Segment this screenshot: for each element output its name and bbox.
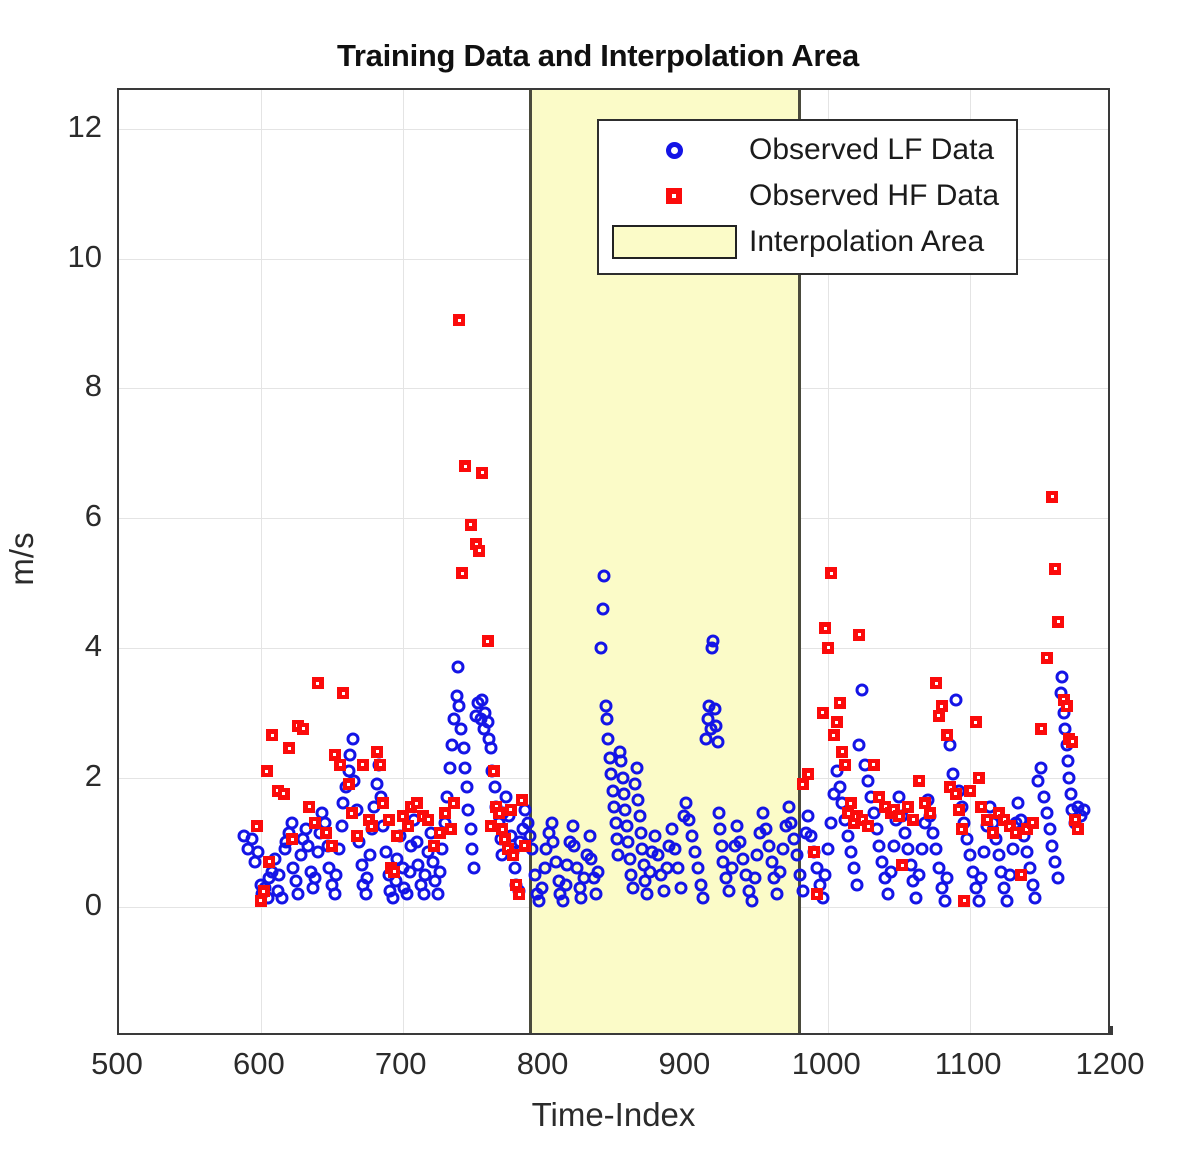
hf-data-point [953, 804, 965, 816]
lf-data-point [697, 891, 710, 904]
hf-data-point [374, 759, 386, 771]
lf-data-point [592, 865, 605, 878]
lf-data-point [454, 722, 467, 735]
hf-data-point [507, 849, 519, 861]
chart-legend[interactable]: Observed LF Data Observed HF Data Interp… [597, 119, 1018, 275]
hf-data-point [1066, 736, 1078, 748]
lf-data-point [598, 570, 611, 583]
lf-data-point [622, 836, 635, 849]
hf-data-point [834, 697, 846, 709]
lf-data-point [822, 842, 835, 855]
lf-data-point [619, 803, 632, 816]
lf-data-point [460, 781, 473, 794]
hf-data-point [334, 759, 346, 771]
interpolation-patch-icon [599, 225, 749, 259]
x-tick-label: 1200 [1040, 1046, 1180, 1082]
lf-data-point [1035, 761, 1048, 774]
hf-data-point [811, 888, 823, 900]
lf-data-point [1020, 846, 1033, 859]
lf-data-point [600, 713, 613, 726]
lf-data-point [547, 836, 560, 849]
lf-data-point [1040, 807, 1053, 820]
hf-data-point [377, 797, 389, 809]
lf-data-point [488, 781, 501, 794]
hf-data-point [283, 742, 295, 754]
lf-data-point [771, 888, 784, 901]
lf-data-point [715, 839, 728, 852]
lf-data-point [640, 888, 653, 901]
lf-data-point [686, 829, 699, 842]
hf-data-point [312, 677, 324, 689]
hf-data-point [445, 823, 457, 835]
lf-data-point [583, 829, 596, 842]
lf-data-point [635, 826, 648, 839]
hf-data-point [964, 785, 976, 797]
lf-data-point [364, 849, 377, 862]
lf-data-point [853, 739, 866, 752]
lf-data-point [850, 878, 863, 891]
hf-data-point [453, 314, 465, 326]
lf-data-point [833, 781, 846, 794]
lf-data-point [927, 826, 940, 839]
lf-data-point [620, 820, 633, 833]
lf-data-point [964, 849, 977, 862]
lf-data-point [467, 862, 480, 875]
lf-data-point [521, 816, 534, 829]
lf-data-point [623, 852, 636, 865]
hf-data-point [981, 814, 993, 826]
hf-data-point [1010, 827, 1022, 839]
lf-data-point [782, 800, 795, 813]
lf-data-point [461, 803, 474, 816]
lf-data-point [618, 787, 631, 800]
hf-data-point [941, 729, 953, 741]
y-tick-label: 10 [18, 239, 102, 275]
hf-data-point [266, 729, 278, 741]
hf-data-point [258, 885, 270, 897]
lf-data-point [466, 842, 479, 855]
x-tick-label: 1100 [898, 1046, 1038, 1082]
lf-data-point [246, 833, 259, 846]
hf-data-point [1046, 491, 1058, 503]
y-tick-label: 2 [18, 758, 102, 794]
lf-data-point [938, 894, 951, 907]
hf-data-point [845, 797, 857, 809]
lf-data-point [881, 888, 894, 901]
lf-data-point [713, 807, 726, 820]
lf-data-point [652, 849, 665, 862]
hf-data-point [337, 687, 349, 699]
hf-data-point [320, 827, 332, 839]
lf-data-point [694, 878, 707, 891]
lf-data-point [793, 868, 806, 881]
hf-data-point [422, 814, 434, 826]
lf-data-point [596, 602, 609, 615]
lf-data-point [759, 823, 772, 836]
hf-data-point [346, 807, 358, 819]
lf-data-point [1006, 842, 1019, 855]
hf-data-point [831, 716, 843, 728]
lf-data-point [734, 836, 747, 849]
lf-data-point [710, 719, 723, 732]
hf-data-point [326, 840, 338, 852]
lf-data-point [632, 794, 645, 807]
lf-data-point [1037, 791, 1050, 804]
lf-data-point [842, 829, 855, 842]
lf-data-point [535, 881, 548, 894]
hf-data-point [343, 778, 355, 790]
lf-data-point [361, 872, 374, 885]
y-tick-label: 8 [18, 368, 102, 404]
lf-data-point [452, 661, 465, 674]
lf-data-point [913, 868, 926, 881]
lf-data-point [625, 868, 638, 881]
lf-data-point [785, 816, 798, 829]
lf-data-point [566, 820, 579, 833]
lf-data-point [417, 888, 430, 901]
y-tick-label: 12 [18, 109, 102, 145]
lf-data-point [1043, 823, 1056, 836]
lf-data-point [1026, 878, 1039, 891]
lf-data-point [649, 829, 662, 842]
lf-data-point [762, 839, 775, 852]
lf-data-point [1001, 894, 1014, 907]
lf-data-point [731, 820, 744, 833]
lf-data-point [532, 894, 545, 907]
lf-data-point [873, 839, 886, 852]
lf-data-point [1046, 839, 1059, 852]
lf-data-point [972, 894, 985, 907]
lf-data-point [291, 888, 304, 901]
hf-data-point [819, 622, 831, 634]
hf-data-point [391, 830, 403, 842]
x-tick-mark [1110, 1026, 1113, 1035]
legend-item-hf[interactable]: Observed HF Data [599, 173, 1016, 219]
hf-data-point [297, 723, 309, 735]
lf-data-point [856, 683, 869, 696]
hf-data-point [825, 567, 837, 579]
lf-data-point [443, 761, 456, 774]
lf-data-point [585, 852, 598, 865]
x-tick-label: 700 [331, 1046, 471, 1082]
hf-data-point [251, 820, 263, 832]
lf-data-point [978, 846, 991, 859]
hf-data-point [1061, 700, 1073, 712]
lf-data-point [901, 842, 914, 855]
hf-data-point [808, 846, 820, 858]
lf-data-point [722, 885, 735, 898]
lf-data-point [949, 693, 962, 706]
lf-data-point [688, 846, 701, 859]
lf-data-point [748, 872, 761, 885]
lf-data-point [844, 846, 857, 859]
hf-data-point [383, 814, 395, 826]
hf-data-point [357, 759, 369, 771]
hf-data-point [488, 765, 500, 777]
lf-data-point [557, 894, 570, 907]
lf-data-point [276, 891, 289, 904]
lf-data-point [1063, 771, 1076, 784]
legend-item-lf[interactable]: Observed LF Data [599, 127, 1016, 173]
lf-data-point [347, 732, 360, 745]
lf-data-point [273, 868, 286, 881]
lf-data-point [674, 881, 687, 894]
hf-data-point [936, 700, 948, 712]
lf-data-point [568, 839, 581, 852]
lf-data-point [629, 778, 642, 791]
hf-data-point [817, 707, 829, 719]
lf-data-point [669, 842, 682, 855]
hf-data-point [505, 804, 517, 816]
hf-data-point [448, 797, 460, 809]
hf-marker-icon [599, 188, 749, 204]
lf-data-point [1064, 787, 1077, 800]
lf-data-point [616, 771, 629, 784]
lf-data-point [657, 885, 670, 898]
lf-data-point [464, 823, 477, 836]
hf-data-point [958, 895, 970, 907]
hf-data-point [987, 827, 999, 839]
lf-data-point [671, 862, 684, 875]
lf-data-point [680, 797, 693, 810]
x-axis-label: Time-Index [117, 1096, 1110, 1134]
lf-data-point [998, 881, 1011, 894]
lf-data-point [559, 878, 572, 891]
hf-data-point [371, 746, 383, 758]
lf-data-point [1012, 797, 1025, 810]
y-tick-label: 0 [18, 887, 102, 923]
lf-data-point [825, 816, 838, 829]
hf-data-point [278, 788, 290, 800]
lf-data-point [805, 829, 818, 842]
hf-data-point [1041, 652, 1053, 664]
lf-data-point [626, 881, 639, 894]
lf-data-point [400, 888, 413, 901]
hf-data-point [970, 716, 982, 728]
hf-data-point [913, 775, 925, 787]
y-tick-label: 4 [18, 628, 102, 664]
hf-data-point [839, 759, 851, 771]
lf-data-point [745, 894, 758, 907]
lf-data-point [776, 842, 789, 855]
lf-data-point [589, 888, 602, 901]
lf-data-point [915, 842, 928, 855]
hf-data-point [485, 820, 497, 832]
lf-data-point [751, 849, 764, 862]
lf-data-point [484, 742, 497, 755]
hf-data-point [366, 820, 378, 832]
lf-data-point [286, 816, 299, 829]
lf-data-point [508, 862, 521, 875]
hf-data-point [1072, 823, 1084, 835]
lf-data-point [1029, 891, 1042, 904]
lf-data-point [725, 862, 738, 875]
hf-data-point [459, 460, 471, 472]
hf-data-point [907, 814, 919, 826]
hf-data-point [513, 888, 525, 900]
hf-data-point [351, 830, 363, 842]
hf-data-point [868, 759, 880, 771]
hf-data-point [388, 866, 400, 878]
hf-data-point [1035, 723, 1047, 735]
lf-data-point [459, 761, 472, 774]
y-tick-label: 6 [18, 498, 102, 534]
lf-data-point [707, 635, 720, 648]
legend-item-interpolation[interactable]: Interpolation Area [599, 219, 1016, 265]
x-tick-label: 1000 [756, 1046, 896, 1082]
lf-data-point [602, 732, 615, 745]
chart-title: Training Data and Interpolation Area [0, 38, 1196, 74]
lf-data-point [335, 820, 348, 833]
lf-data-point [457, 742, 470, 755]
lf-data-point [359, 888, 372, 901]
lf-data-point [328, 888, 341, 901]
lf-data-point [1049, 855, 1062, 868]
x-tick-label: 800 [473, 1046, 613, 1082]
hf-data-point [476, 467, 488, 479]
hf-data-point [896, 859, 908, 871]
hf-data-point [853, 629, 865, 641]
lf-data-point [683, 813, 696, 826]
x-tick-label: 900 [614, 1046, 754, 1082]
hf-data-point [802, 768, 814, 780]
lf-data-point [287, 862, 300, 875]
lf-data-point [992, 849, 1005, 862]
lf-data-point [898, 826, 911, 839]
hf-data-point [930, 677, 942, 689]
hf-data-point [519, 840, 531, 852]
x-tick-label: 500 [47, 1046, 187, 1082]
hf-data-point [286, 833, 298, 845]
hf-data-point [493, 807, 505, 819]
lf-data-point [737, 852, 750, 865]
legend-label-hf: Observed HF Data [749, 179, 999, 213]
lf-data-point [757, 807, 770, 820]
lf-data-point [910, 891, 923, 904]
lf-data-point [796, 885, 809, 898]
hf-data-point [309, 817, 321, 829]
hf-data-point [263, 856, 275, 868]
lf-data-point [847, 862, 860, 875]
lf-data-point [615, 755, 628, 768]
lf-data-point [975, 872, 988, 885]
hf-data-point [862, 820, 874, 832]
hf-data-point [828, 729, 840, 741]
lf-data-point [1062, 755, 1075, 768]
hf-data-point [465, 519, 477, 531]
lf-data-point [386, 891, 399, 904]
lf-data-point [410, 836, 423, 849]
hf-data-point [902, 801, 914, 813]
hf-data-point [1049, 563, 1061, 575]
lf-data-point [599, 700, 612, 713]
lf-data-point [666, 823, 679, 836]
lf-data-point [819, 868, 832, 881]
legend-label-interpolation: Interpolation Area [749, 225, 984, 259]
lf-data-point [545, 816, 558, 829]
hf-data-point [261, 765, 273, 777]
lf-data-point [481, 716, 494, 729]
lf-data-point [1032, 774, 1045, 787]
hf-data-point [836, 746, 848, 758]
lf-data-point [633, 810, 646, 823]
hf-data-point [482, 635, 494, 647]
hf-data-point [1052, 616, 1064, 628]
lf-data-point [711, 735, 724, 748]
hf-data-point [402, 820, 414, 832]
lf-data-point [476, 693, 489, 706]
hf-data-point [428, 840, 440, 852]
hf-data-point [473, 545, 485, 557]
lf-data-point [791, 849, 804, 862]
hf-data-point [924, 807, 936, 819]
lf-data-point [1052, 872, 1065, 885]
lf-data-point [433, 865, 446, 878]
hf-data-point [516, 794, 528, 806]
lf-data-point [691, 862, 704, 875]
lf-data-point [330, 868, 343, 881]
hf-data-point [411, 797, 423, 809]
lf-data-point [941, 872, 954, 885]
lf-data-point [630, 761, 643, 774]
hf-data-point [822, 642, 834, 654]
hf-data-point [1015, 869, 1027, 881]
hf-data-point [950, 788, 962, 800]
lf-data-point [290, 875, 303, 888]
lf-data-point [595, 641, 608, 654]
lf-data-point [930, 842, 943, 855]
hf-data-point [973, 772, 985, 784]
lf-data-point [887, 839, 900, 852]
chart-figure: Training Data and Interpolation Area m/s… [0, 0, 1196, 1159]
lf-data-point [371, 778, 384, 791]
hf-data-point [1027, 817, 1039, 829]
lf-data-point [862, 774, 875, 787]
hf-data-point [956, 823, 968, 835]
lf-data-point [308, 872, 321, 885]
hf-data-point [434, 827, 446, 839]
hf-data-point [456, 567, 468, 579]
x-tick-label: 600 [189, 1046, 329, 1082]
lf-data-point [708, 703, 721, 716]
lf-data-point [774, 865, 787, 878]
legend-label-lf: Observed LF Data [749, 133, 994, 167]
lf-data-point [802, 810, 815, 823]
lf-data-point [575, 891, 588, 904]
hf-data-point [303, 801, 315, 813]
lf-marker-icon [599, 142, 749, 159]
lf-data-point [432, 888, 445, 901]
lf-data-point [947, 768, 960, 781]
hf-data-point [975, 801, 987, 813]
lf-data-point [714, 823, 727, 836]
lf-data-point [453, 700, 466, 713]
lf-data-point [1056, 671, 1069, 684]
